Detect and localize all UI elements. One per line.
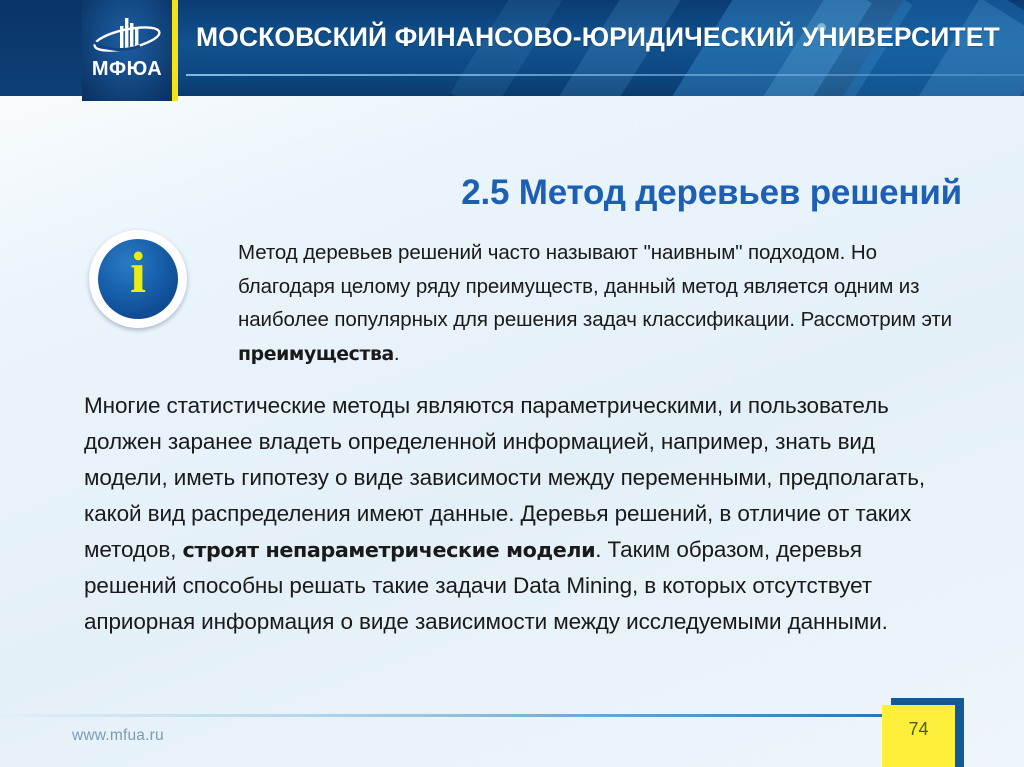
intro-emphasis: преимущества bbox=[238, 343, 394, 365]
page-number: 74 bbox=[882, 705, 955, 753]
header-divider-line bbox=[186, 74, 1024, 76]
footer-divider-line bbox=[0, 714, 888, 717]
header-left-panel bbox=[0, 0, 86, 96]
intro-text-part1: Метод деревьев решений часто называют "н… bbox=[238, 241, 952, 331]
logo-abbreviation: МФЮА bbox=[82, 58, 172, 81]
presentation-slide: МОСКОВСКИЙ ФИНАНСОВО-ЮРИДИЧЕСКИЙ УНИВЕРС… bbox=[0, 0, 1024, 767]
intro-text-part2: . bbox=[394, 342, 400, 365]
building-orbit-logo-icon bbox=[90, 16, 164, 58]
university-logo: МФЮА bbox=[82, 0, 172, 101]
body-paragraph: Многие статистические методы являются па… bbox=[84, 388, 956, 640]
logo-accent-bar bbox=[172, 0, 178, 101]
slide-title: 2.5 Метод деревьев решений bbox=[0, 173, 962, 213]
info-icon-glyph: i bbox=[89, 244, 187, 302]
body-emphasis: строят непараметрические модели bbox=[183, 538, 596, 562]
intro-paragraph: Метод деревьев решений часто называют "н… bbox=[238, 236, 954, 371]
footer-website-url[interactable]: www.mfua.ru bbox=[72, 727, 164, 745]
university-name: МОСКОВСКИЙ ФИНАНСОВО-ЮРИДИЧЕСКИЙ УНИВЕРС… bbox=[196, 0, 1000, 74]
info-circle-icon: i bbox=[89, 230, 187, 328]
